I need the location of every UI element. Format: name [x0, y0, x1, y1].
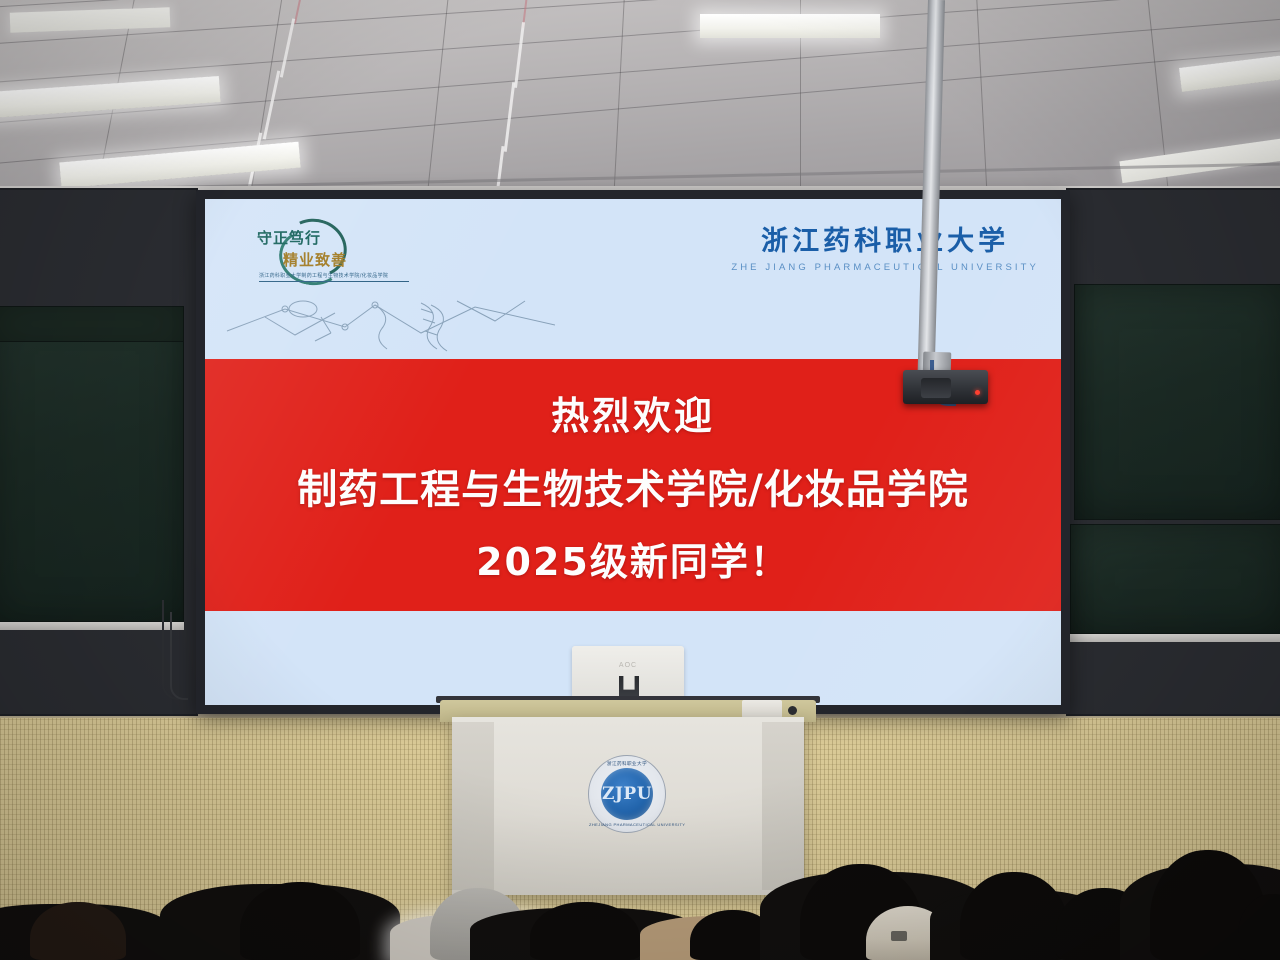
projection-screen-frame: 守正笃行 精业致善 浙江药科职业大学制药工程与生物技术学院/化妆品学院 [196, 190, 1070, 714]
projector-power-led [975, 390, 980, 395]
hanging-cable [170, 612, 188, 700]
ceiling-grid-line [0, 0, 1280, 57]
projector-lens-icon [921, 378, 951, 398]
emblem-text-top: 浙江药科职业大学 [589, 761, 665, 767]
podium-equipment-knob [788, 706, 797, 715]
university-name-en: ZHE JIANG PHARMACEUTICAL UNIVERSITY [731, 262, 1039, 273]
molecule-line-art-icon [225, 287, 555, 353]
blackboard-left [0, 306, 184, 622]
department-logo: 守正笃行 精业致善 浙江药科职业大学制药工程与生物技术学院/化妆品学院 [249, 217, 429, 289]
podium-equipment [742, 700, 782, 718]
emblem-monogram: ZJPU [601, 768, 653, 820]
ceiling-grid-line [0, 0, 1280, 139]
blackboard-left-upper-slat [0, 306, 184, 342]
logo-motto-line1: 守正笃行 [257, 227, 321, 248]
cap-logo-icon [891, 931, 907, 941]
chalk-tray-right [1070, 634, 1280, 642]
chalk-tray-left [0, 622, 184, 630]
headline-line-2: 制药工程与生物技术学院/化妆品学院 [205, 457, 1061, 515]
audience [0, 820, 1280, 960]
monitor-stand [619, 676, 639, 698]
emblem-core: ZJPU [601, 768, 653, 820]
podium-monitor: AOC [572, 646, 684, 702]
blackboard-right-lower [1070, 524, 1280, 634]
university-name-cn: 浙江药科职业大学 [731, 219, 1039, 258]
logo-subtitle: 浙江药科职业大学制药工程与生物技术学院/化妆品学院 [259, 272, 409, 282]
audience-head [960, 872, 1068, 960]
blackboard-right-upper [1074, 284, 1280, 520]
ceiling-light [700, 14, 880, 38]
ceiling-grid-line [426, 0, 454, 199]
lecture-hall-photo: 守正笃行 精业致善 浙江药科职业大学制药工程与生物技术学院/化妆品学院 [0, 0, 1280, 960]
ceiling [0, 0, 1280, 200]
university-logo: 浙江药科职业大学 ZHE JIANG PHARMACEUTICAL UNIVER… [731, 219, 1039, 273]
logo-motto-line2: 精业致善 [283, 249, 347, 270]
headline-line-3: 2025级新同学！ [205, 531, 1061, 586]
ceiling-grid-line [0, 0, 1280, 19]
ceiling-grid-line [613, 0, 628, 200]
projector [903, 370, 988, 404]
monitor-brand-label: AOC [572, 662, 684, 669]
